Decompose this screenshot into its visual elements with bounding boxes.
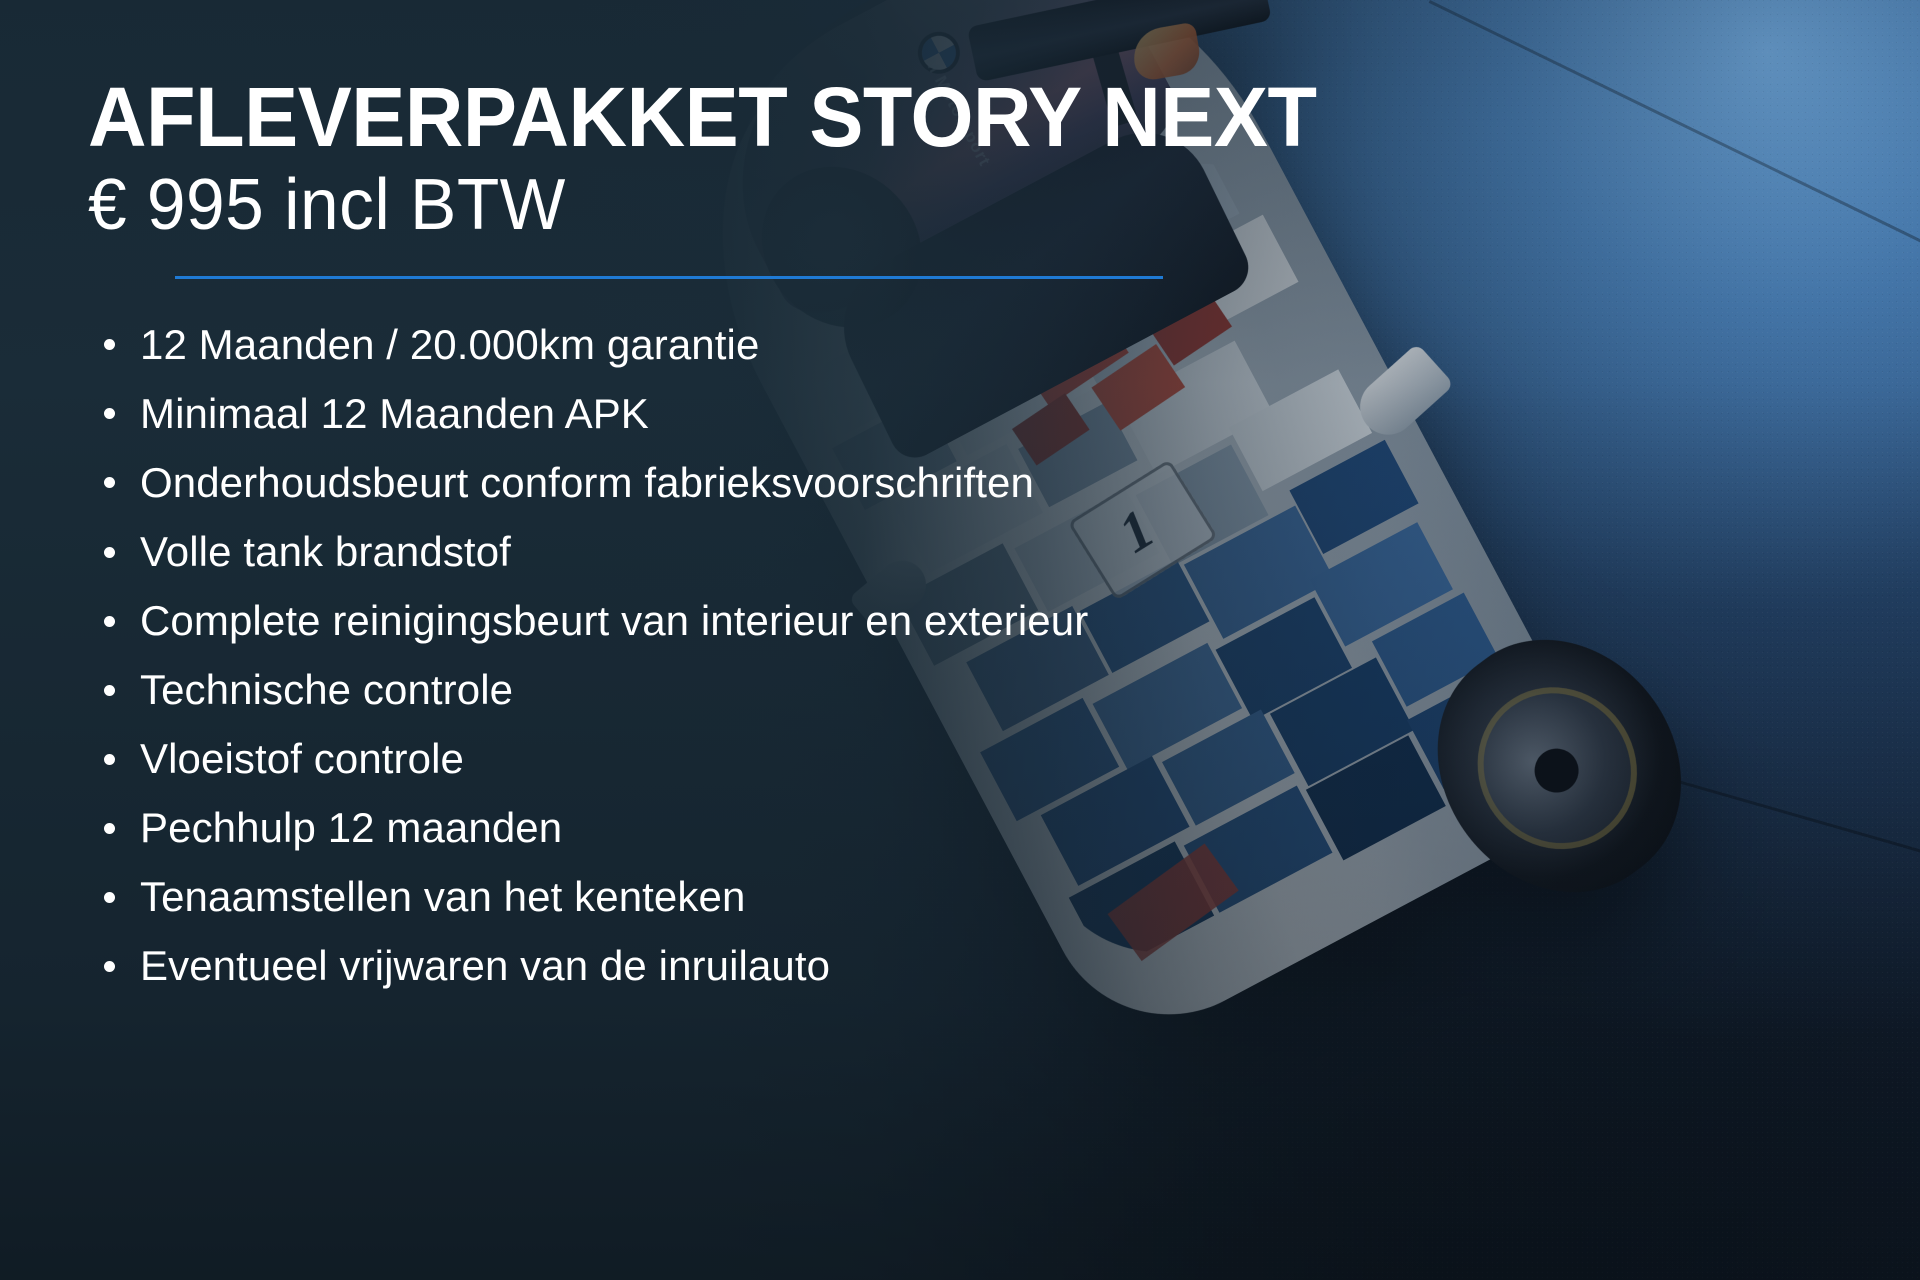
list-item-label: 12 Maanden / 20.000km garantie: [140, 321, 759, 368]
list-item: Technische controle: [88, 666, 1250, 713]
banner-content: AFLEVERPAKKET STORY NEXT € 995 incl BTW …: [0, 0, 1250, 1011]
promo-banner: M Motorsport 1 AFLEVERPAKKET STORY NEXT …: [0, 0, 1920, 1280]
list-item: 12 Maanden / 20.000km garantie: [88, 321, 1250, 368]
bullet-icon: [104, 477, 115, 488]
list-item-label: Pechhulp 12 maanden: [140, 804, 562, 851]
list-item-label: Minimaal 12 Maanden APK: [140, 390, 649, 437]
bullet-icon: [104, 754, 115, 765]
list-item: Pechhulp 12 maanden: [88, 804, 1250, 851]
price-subtitle: € 995 incl BTW: [88, 158, 1209, 244]
bullet-icon: [104, 339, 115, 350]
bullet-icon: [104, 823, 115, 834]
list-item: Minimaal 12 Maanden APK: [88, 390, 1250, 437]
list-item-label: Complete reinigingsbeurt van interieur e…: [140, 597, 1088, 644]
list-item-label: Vloeistof controle: [140, 735, 464, 782]
list-item: Eventueel vrijwaren van de inruilauto: [88, 942, 1250, 989]
list-item: Onderhoudsbeurt conform fabrieksvoorschr…: [88, 459, 1250, 506]
bullet-icon: [104, 685, 115, 696]
list-item-label: Eventueel vrijwaren van de inruilauto: [140, 942, 830, 989]
bullet-icon: [104, 892, 115, 903]
page-title: AFLEVERPAKKET STORY NEXT: [88, 0, 1209, 158]
feature-list: 12 Maanden / 20.000km garantieMinimaal 1…: [88, 287, 1250, 989]
list-item: Volle tank brandstof: [88, 528, 1250, 575]
list-item: Vloeistof controle: [88, 735, 1250, 782]
bullet-icon: [104, 961, 115, 972]
list-item-label: Tenaamstellen van het kenteken: [140, 873, 745, 920]
list-item-label: Volle tank brandstof: [140, 528, 511, 575]
list-item: Complete reinigingsbeurt van interieur e…: [88, 597, 1250, 644]
bullet-icon: [104, 547, 115, 558]
list-item: Tenaamstellen van het kenteken: [88, 873, 1250, 920]
bullet-icon: [104, 408, 115, 419]
bullet-icon: [104, 616, 115, 627]
list-item-label: Technische controle: [140, 666, 513, 713]
list-item-label: Onderhoudsbeurt conform fabrieksvoorschr…: [140, 459, 1034, 506]
divider: [175, 276, 1163, 279]
